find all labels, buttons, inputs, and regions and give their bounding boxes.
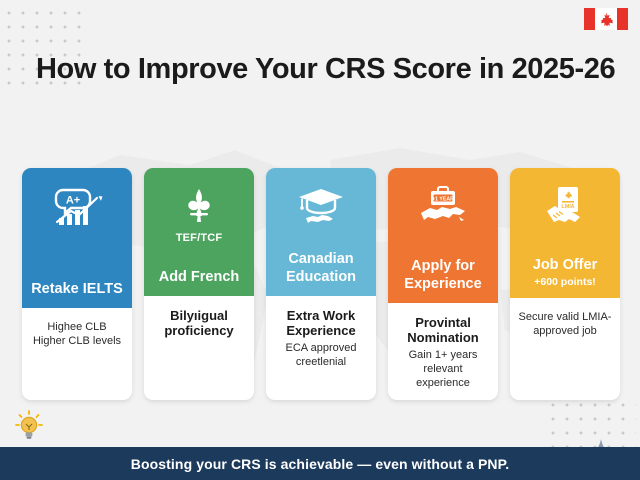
card-title: Retake IELTS [31, 271, 123, 298]
card-title: Job Offer [533, 247, 597, 274]
lmia-handshake-icon: LMIA [539, 184, 591, 230]
card-title: Add French [159, 259, 240, 286]
card-header: A+ Retake IELTS [22, 168, 132, 308]
fleur-de-lis-icon [179, 184, 219, 230]
infographic-canvas: How to Improve Your CRS Score in 2025-26… [0, 0, 640, 480]
card-header: TEF/TCF Add French [144, 168, 254, 296]
card-retake-ielts[interactable]: A+ Retake IELTS Highee CLB Higher CLB le… [22, 168, 132, 400]
card-body-strong: Extra Work Experience [274, 308, 368, 339]
svg-text:LMIA: LMIA [561, 204, 574, 210]
page-title: How to Improve Your CRS Score in 2025-26 [36, 52, 616, 87]
card-body-text: ECA approved creetlenial [274, 341, 368, 370]
card-body-text: Highee CLB Higher CLB levels [30, 320, 124, 349]
card-body: Provintal Nomination Gain 1+ years relev… [388, 303, 498, 400]
graduation-cap-canada-icon [296, 184, 346, 230]
card-add-french[interactable]: TEF/TCF Add French Bilyıigual proficienc… [144, 168, 254, 400]
a-plus-bar-chart-icon: A+ [49, 184, 105, 230]
card-apply-for-experience[interactable]: +1 YEAR Apply for Experience Provintal N… [388, 168, 498, 400]
briefcase-one-year-canada-icon: +1 YEAR [415, 184, 471, 230]
card-body-strong: Bilyıigual proficiency [152, 308, 246, 339]
card-canadian-education[interactable]: Canadian Education Extra Work Experience… [266, 168, 376, 400]
card-title: Canadian Education [272, 241, 370, 286]
card-body: Bilyıigual proficiency [144, 296, 254, 400]
card-kicker: TEF/TCF [176, 232, 223, 244]
cards-row: A+ Retake IELTS Highee CLB Higher CLB le… [22, 168, 622, 400]
card-header: Canadian Education [266, 168, 376, 296]
card-body-text: Gain 1+ years relevant experience [396, 348, 490, 391]
card-body: Extra Work Experience ECA approved creet… [266, 296, 376, 400]
card-job-offer[interactable]: LMIA Job Offer +600 points! Secure valid… [510, 168, 620, 400]
card-body: Secure valid LMIA-approved job [510, 298, 620, 400]
card-subtitle: +600 points! [534, 276, 596, 288]
card-header: LMIA Job Offer +600 points! [510, 168, 620, 298]
footer-bar: Boosting your CRS is achievable — even w… [0, 447, 640, 480]
card-body-strong: Provintal Nomination [396, 315, 490, 346]
card-body: Highee CLB Higher CLB levels [22, 308, 132, 400]
card-title: Apply for Experience [394, 248, 492, 293]
card-body-text: Secure valid LMIA-approved job [518, 310, 612, 339]
footer-text: Boosting your CRS is achievable — even w… [131, 456, 509, 472]
canada-flag-icon [584, 8, 628, 30]
card-header: +1 YEAR Apply for Experience [388, 168, 498, 303]
lightbulb-icon [12, 408, 46, 442]
svg-text:A+: A+ [66, 195, 80, 207]
badge-label: +1 YEAR [432, 196, 454, 202]
